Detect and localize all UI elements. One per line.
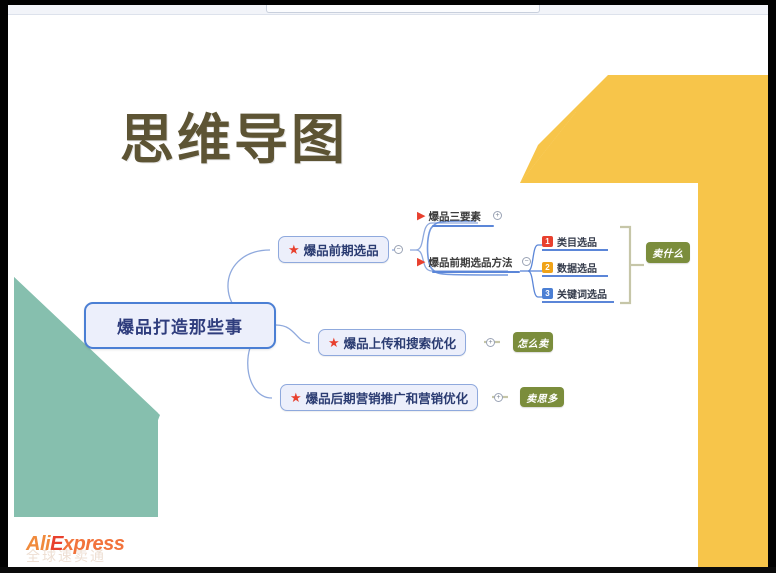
numbered-underline-2 bbox=[542, 275, 608, 277]
numbered-underline-1 bbox=[542, 249, 608, 251]
number-badge-1: 1 bbox=[542, 236, 553, 247]
collapse-toggle-branch-2[interactable]: + bbox=[486, 338, 495, 347]
connector-lines bbox=[8, 5, 768, 568]
star-icon: ★ bbox=[288, 243, 300, 256]
numbered-item-label-3: 关键词选品 bbox=[557, 286, 607, 301]
aliexpress-logo-subtitle: 全球速卖通 bbox=[26, 546, 106, 566]
leaf-underline-2 bbox=[432, 271, 520, 273]
mindmap-numbered-item-1[interactable]: 1 类目选品 bbox=[542, 234, 597, 249]
mindmap-branch-node-2[interactable]: ★ 爆品上传和搜索优化 bbox=[318, 329, 466, 356]
mindmap-leaf-node-baopin-sanyaosu[interactable]: ▶ 爆品三要素 bbox=[417, 208, 481, 224]
leaf-label-1: 爆品三要素 bbox=[428, 209, 481, 224]
star-icon: ★ bbox=[328, 336, 340, 349]
branch-1-label: 爆品前期选品 bbox=[304, 240, 379, 259]
star-icon: ★ bbox=[290, 391, 302, 404]
tag-how-to-sell[interactable]: 怎么卖 bbox=[513, 332, 553, 352]
decor-teal-shape bbox=[8, 5, 768, 568]
leaf-label-2: 爆品前期选品方法 bbox=[428, 255, 512, 270]
letterbox-right bbox=[768, 0, 776, 573]
flag-icon: ▶ bbox=[417, 211, 425, 222]
branch-2-label: 爆品上传和搜索优化 bbox=[344, 333, 457, 352]
tag-sell-what[interactable]: 卖什么 bbox=[646, 242, 690, 263]
mindmap-branch-node-3[interactable]: ★ 爆品后期营销推广和营销优化 bbox=[280, 384, 478, 411]
numbered-underline-3 bbox=[542, 301, 614, 303]
flag-icon: ▶ bbox=[417, 257, 425, 268]
tag-b-label: 怎么卖 bbox=[517, 335, 549, 350]
mindmap-numbered-item-3[interactable]: 3 关键词选品 bbox=[542, 286, 607, 301]
letterbox-bottom bbox=[0, 567, 776, 573]
numbered-item-label-2: 数据选品 bbox=[557, 260, 597, 275]
tag-a-label: 卖什么 bbox=[652, 245, 684, 260]
presentation-slide: 思维导图 bbox=[8, 5, 768, 568]
number-badge-2: 2 bbox=[542, 262, 553, 273]
mindmap-root-node[interactable]: 爆品打造那些事 bbox=[84, 302, 276, 349]
tag-sell-more[interactable]: 卖思多 bbox=[520, 387, 564, 407]
page-title: 思维导图 bbox=[120, 95, 348, 174]
browser-tab[interactable] bbox=[266, 5, 540, 13]
mindmap-branch-node-1[interactable]: ★ 爆品前期选品 bbox=[278, 236, 389, 263]
collapse-toggle-leaf-2[interactable]: − bbox=[522, 257, 531, 266]
mindmap-leaf-node-xuanpin-fangfa[interactable]: ▶ 爆品前期选品方法 bbox=[417, 254, 512, 270]
number-badge-3: 3 bbox=[542, 288, 553, 299]
collapse-toggle-branch-3[interactable]: + bbox=[494, 393, 503, 402]
decor-yellow-shape bbox=[8, 5, 768, 568]
leaf-underline-1 bbox=[432, 225, 494, 227]
mindmap-numbered-item-2[interactable]: 2 数据选品 bbox=[542, 260, 597, 275]
collapse-toggle-branch-1[interactable]: − bbox=[394, 245, 403, 254]
tag-c-label: 卖思多 bbox=[526, 390, 558, 405]
screenshot-root: 思维导图 bbox=[0, 0, 776, 573]
numbered-item-label-1: 类目选品 bbox=[557, 234, 597, 249]
root-node-label: 爆品打造那些事 bbox=[117, 313, 243, 338]
letterbox-left bbox=[0, 0, 8, 573]
collapse-toggle-leaf-1[interactable]: + bbox=[493, 211, 502, 220]
branch-3-label: 爆品后期营销推广和营销优化 bbox=[306, 388, 469, 407]
